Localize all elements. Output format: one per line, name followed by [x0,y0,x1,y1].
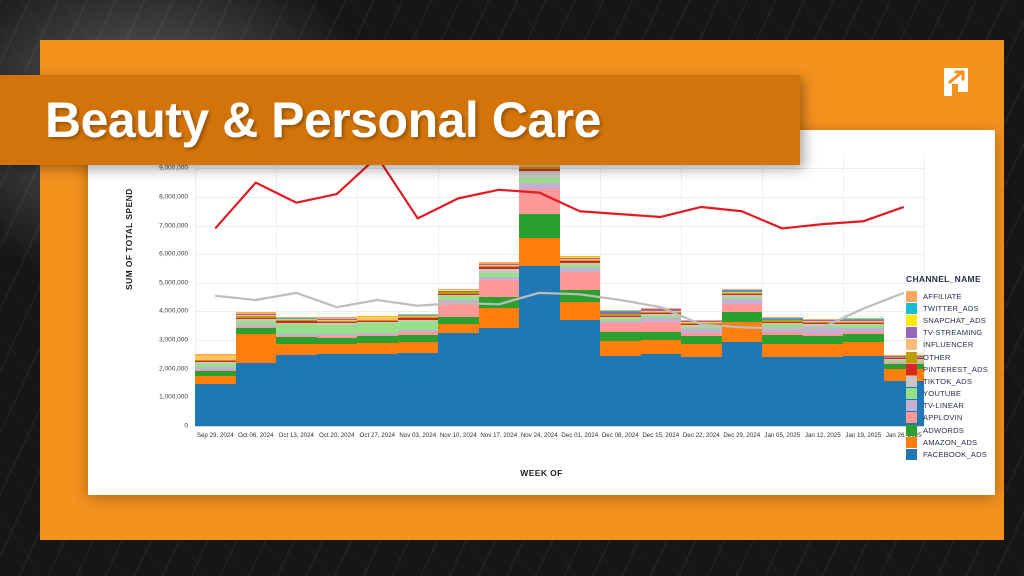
x-axis-tick: Dec 08, 2024 [602,432,639,439]
y-axis-tick: 7,000,000 [159,222,195,229]
legend-label: INFLUENCER [923,340,974,349]
x-axis-tick: Nov 24, 2024 [521,432,558,439]
y-axis-tick: 9,000,000 [159,165,195,172]
x-axis-tick: Oct 27, 2024 [360,432,395,439]
x-axis-tick: Oct 20, 2024 [319,432,354,439]
legend-item[interactable]: AFFILIATE [906,290,1024,302]
x-axis-tick: Nov 03, 2024 [399,432,436,439]
legend-swatch [906,315,917,326]
y-axis-tick: 8,000,000 [159,193,195,200]
legend-item[interactable]: TV-LINEAR [906,400,1024,412]
y-axis-tick: 5,000,000 [159,279,195,286]
chart-card: SUM OF TOTAL SPEND WEEK OF 01,000,0002,0… [88,130,995,495]
slide-title-banner: Beauty & Personal Care [0,75,800,165]
legend-item[interactable]: APPLOVIN [906,412,1024,424]
gridline [195,426,924,427]
legend-swatch [906,291,917,302]
legend-item[interactable]: INFLUENCER [906,339,1024,351]
legend-item[interactable]: OTHER [906,351,1024,363]
x-axis-tick: Nov 17, 2024 [480,432,517,439]
page-title: Beauty & Personal Care [45,91,601,149]
red-trend-line [215,157,904,229]
plot-area: 01,000,0002,000,0003,000,0004,000,0005,0… [195,154,924,426]
legend-label: TV-LINEAR [923,401,964,410]
legend-label: ADWORDS [923,426,964,435]
x-axis-tick: Dec 15, 2024 [642,432,679,439]
y-axis-tick: 0 [184,423,195,430]
legend-swatch [906,449,917,460]
x-axis-tick: Sep 29, 2024 [197,432,234,439]
y-axis-tick: 3,000,000 [159,337,195,344]
chart-legend: CHANNEL_NAME AFFILIATETWITTER_ADSSNAPCHA… [906,274,1024,461]
legend-item[interactable]: TIKTOK_ADS [906,375,1024,387]
legend-item[interactable]: AMAZON_ADS [906,436,1024,448]
x-axis-tick: Oct 13, 2024 [279,432,314,439]
legend-swatch [906,339,917,350]
legend-swatch [906,352,917,363]
y-axis-tick: 2,000,000 [159,365,195,372]
legend-label: SNAPCHAT_ADS [923,316,986,325]
legend-swatch [906,303,917,314]
overlay-lines [195,154,924,426]
legend-swatch [906,327,917,338]
legend-swatch [906,376,917,387]
legend-item[interactable]: TV-STREAMING [906,327,1024,339]
x-axis-tick: Jan 12, 2025 [805,432,841,439]
legend-label: APPLOVIN [923,413,963,422]
legend-label: YOUTUBE [923,389,961,398]
legend-label: AMAZON_ADS [923,438,977,447]
y-axis-tick: 4,000,000 [159,308,195,315]
legend-item[interactable]: YOUTUBE [906,388,1024,400]
legend-item[interactable]: ADWORDS [906,424,1024,436]
gray-trend-line [215,293,904,329]
stacked-bar-chart: SUM OF TOTAL SPEND WEEK OF 01,000,0002,0… [88,130,995,495]
legend-swatch [906,412,917,423]
legend-label: TWITTER_ADS [923,304,979,313]
legend-item[interactable]: FACEBOOK_ADS [906,448,1024,460]
legend-swatch [906,364,917,375]
legend-label: OTHER [923,353,951,362]
legend-label: TIKTOK_ADS [923,377,972,386]
x-axis-tick: Jan 19, 2025 [845,432,881,439]
legend-title: CHANNEL_NAME [906,274,1024,284]
x-axis-tick: Dec 01, 2024 [561,432,598,439]
legend-label: PINTEREST_ADS [923,365,988,374]
x-axis-tick: Jan 05, 2025 [764,432,800,439]
y-axis-label: SUM OF TOTAL SPEND [124,188,134,290]
legend-item[interactable]: PINTEREST_ADS [906,363,1024,375]
legend-item[interactable]: TWITTER_ADS [906,302,1024,314]
legend-swatch [906,437,917,448]
legend-items: AFFILIATETWITTER_ADSSNAPCHAT_ADSTV-STREA… [906,290,1024,461]
legend-label: TV-STREAMING [923,328,982,337]
flag-arrow-logo [936,62,976,102]
x-axis-tick: Dec 22, 2024 [683,432,720,439]
legend-item[interactable]: SNAPCHAT_ADS [906,314,1024,326]
y-axis-tick: 6,000,000 [159,251,195,258]
x-axis-label: WEEK OF [88,468,995,478]
legend-swatch [906,388,917,399]
x-axis-tick: Dec 29, 2024 [723,432,760,439]
x-axis-tick: Nov 10, 2024 [440,432,477,439]
legend-label: AFFILIATE [923,292,962,301]
legend-label: FACEBOOK_ADS [923,450,987,459]
legend-swatch [906,425,917,436]
legend-swatch [906,400,917,411]
y-axis-tick: 1,000,000 [159,394,195,401]
x-axis-tick: Oct 06, 2024 [238,432,273,439]
